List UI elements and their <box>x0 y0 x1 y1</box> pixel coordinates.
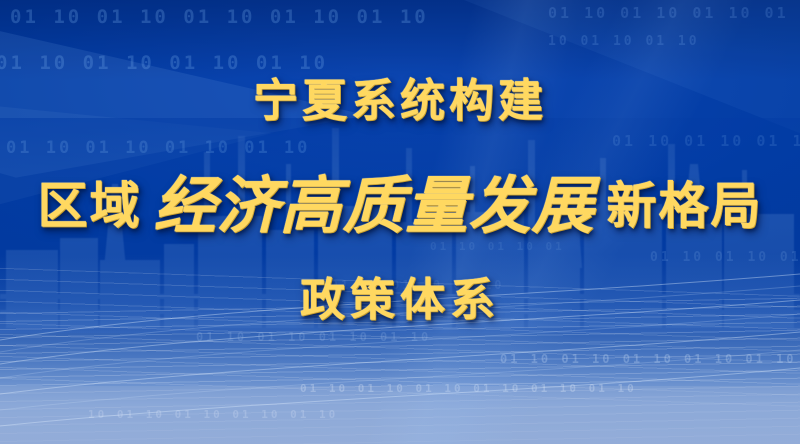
banner-image: 01 10 01 10 01 10 01 10 01 10 01 10 01 1… <box>0 0 800 444</box>
headline-line-3: 政策体系 <box>300 277 500 322</box>
headline-line-2-prefix: 区域 <box>37 166 141 238</box>
headline-block: 宁夏系统构建 区域 经济高质量发展 新格局 政策体系 <box>0 0 800 444</box>
headline-line-2-emphasis: 经济高质量发展 <box>141 155 606 245</box>
headline-line-1: 宁夏系统构建 <box>253 78 547 123</box>
headline-line-2: 区域 经济高质量发展 新格局 <box>37 151 762 241</box>
headline-line-2-suffix: 新格局 <box>607 166 763 238</box>
